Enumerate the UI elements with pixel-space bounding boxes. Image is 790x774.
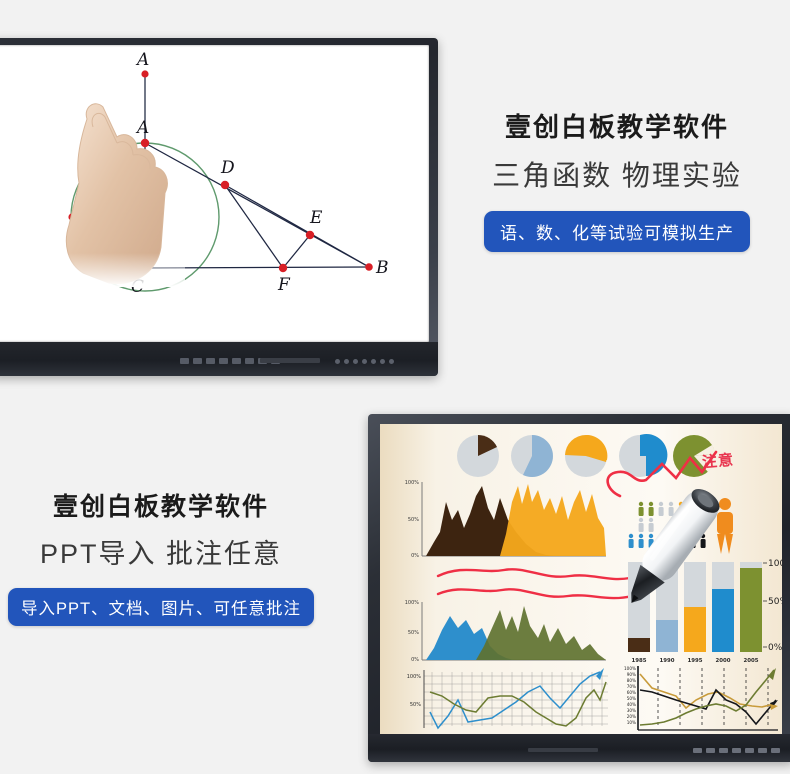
- bottom-feature-pill[interactable]: 导入PPT、文档、图片、可任意批注: [8, 588, 314, 626]
- svg-text:30%: 30%: [627, 708, 636, 713]
- device-brand-logo: [528, 748, 598, 752]
- svg-text:50%: 50%: [410, 702, 421, 708]
- svg-text:D: D: [220, 158, 235, 178]
- control-button[interactable]: [245, 358, 254, 364]
- control-button[interactable]: [193, 358, 202, 364]
- speaker-dot: [371, 359, 376, 364]
- svg-text:50%: 50%: [408, 630, 419, 636]
- control-button[interactable]: [719, 748, 728, 753]
- svg-text:10%: 10%: [627, 720, 636, 725]
- device-screen-geometry: A A D E B F C: [0, 45, 429, 342]
- top-text-block: 壹创白板教学软件 三角函数 物理实验 语、数、化等试验可模拟生产: [452, 112, 782, 252]
- speaker-dot: [389, 359, 394, 364]
- promo-page: A A D E B F C: [0, 0, 790, 774]
- speaker-dot: [344, 359, 349, 364]
- control-button[interactable]: [219, 358, 228, 364]
- svg-text:A: A: [135, 50, 149, 70]
- svg-text:E: E: [309, 208, 323, 228]
- svg-text:100%: 100%: [624, 666, 636, 671]
- control-button[interactable]: [771, 748, 780, 753]
- control-button[interactable]: [180, 358, 189, 364]
- top-heading: 壹创白板教学软件: [452, 112, 782, 143]
- control-button[interactable]: [745, 748, 754, 753]
- geometry-diagram: A A D E B F C: [0, 45, 429, 342]
- control-button[interactable]: [693, 748, 702, 753]
- bottom-heading: 壹创白板教学软件: [0, 492, 326, 522]
- annotation-label-zhuyi: 注意: [701, 449, 735, 473]
- svg-text:B: B: [375, 258, 389, 278]
- speaker-dot: [380, 359, 385, 364]
- svg-text:0%: 0%: [411, 553, 419, 559]
- svg-text:C: C: [131, 277, 144, 297]
- svg-text:A: A: [135, 118, 149, 138]
- control-button[interactable]: [706, 748, 715, 753]
- geometry-lines: [145, 74, 369, 268]
- device-speaker-grille: [335, 359, 394, 364]
- svg-text:F: F: [277, 275, 291, 295]
- svg-text:1985: 1985: [631, 658, 646, 664]
- bottom-text-block: 壹创白板教学软件 PPT导入 批注任意 导入PPT、文档、图片、可任意批注: [0, 492, 326, 626]
- top-feature-pill[interactable]: 语、数、化等试验可模拟生产: [484, 211, 750, 252]
- device-chin: [0, 342, 438, 376]
- control-button[interactable]: [732, 748, 741, 753]
- control-button[interactable]: [758, 748, 767, 753]
- svg-text:100%: 100%: [405, 480, 420, 486]
- bottom-subheading: PPT导入 批注任意: [0, 538, 326, 570]
- whiteboard-device-bottom: 100% 50% 0%: [368, 414, 790, 762]
- svg-text:100%: 100%: [407, 674, 422, 680]
- svg-text:0%: 0%: [768, 643, 782, 653]
- top-subheading: 三角函数 物理实验: [452, 159, 782, 193]
- svg-text:50%: 50%: [627, 696, 636, 701]
- device-screen-dashboard: 100% 50% 0%: [380, 424, 782, 734]
- control-button[interactable]: [206, 358, 215, 364]
- svg-text:60%: 60%: [627, 690, 636, 695]
- svg-text:20%: 20%: [627, 714, 636, 719]
- svg-text:70%: 70%: [627, 684, 636, 689]
- svg-text:40%: 40%: [627, 702, 636, 707]
- svg-text:50%: 50%: [408, 517, 419, 523]
- svg-text:80%: 80%: [627, 678, 636, 683]
- geometry-labels: A A D E B F C: [131, 50, 389, 297]
- svg-text:100%: 100%: [405, 600, 420, 606]
- svg-text:90%: 90%: [627, 672, 636, 677]
- svg-text:2000: 2000: [715, 658, 730, 664]
- svg-text:50%: 50%: [768, 597, 782, 607]
- panel-top: A A D E B F C: [0, 0, 790, 400]
- svg-text:0%: 0%: [411, 657, 419, 663]
- speaker-dot: [335, 359, 340, 364]
- whiteboard-device-top: A A D E B F C: [0, 38, 438, 376]
- svg-text:1995: 1995: [687, 658, 702, 664]
- svg-text:1990: 1990: [659, 658, 674, 664]
- svg-text:2005: 2005: [743, 658, 758, 664]
- speaker-dot: [362, 359, 367, 364]
- device-chin: [368, 734, 790, 762]
- panel-bottom: 壹创白板教学软件 PPT导入 批注任意 导入PPT、文档、图片、可任意批注: [0, 400, 790, 774]
- device-control-buttons[interactable]: [693, 748, 780, 753]
- device-brand-logo: [260, 358, 320, 363]
- control-button[interactable]: [232, 358, 241, 364]
- speaker-dot: [353, 359, 358, 364]
- svg-text:100%: 100%: [768, 559, 782, 569]
